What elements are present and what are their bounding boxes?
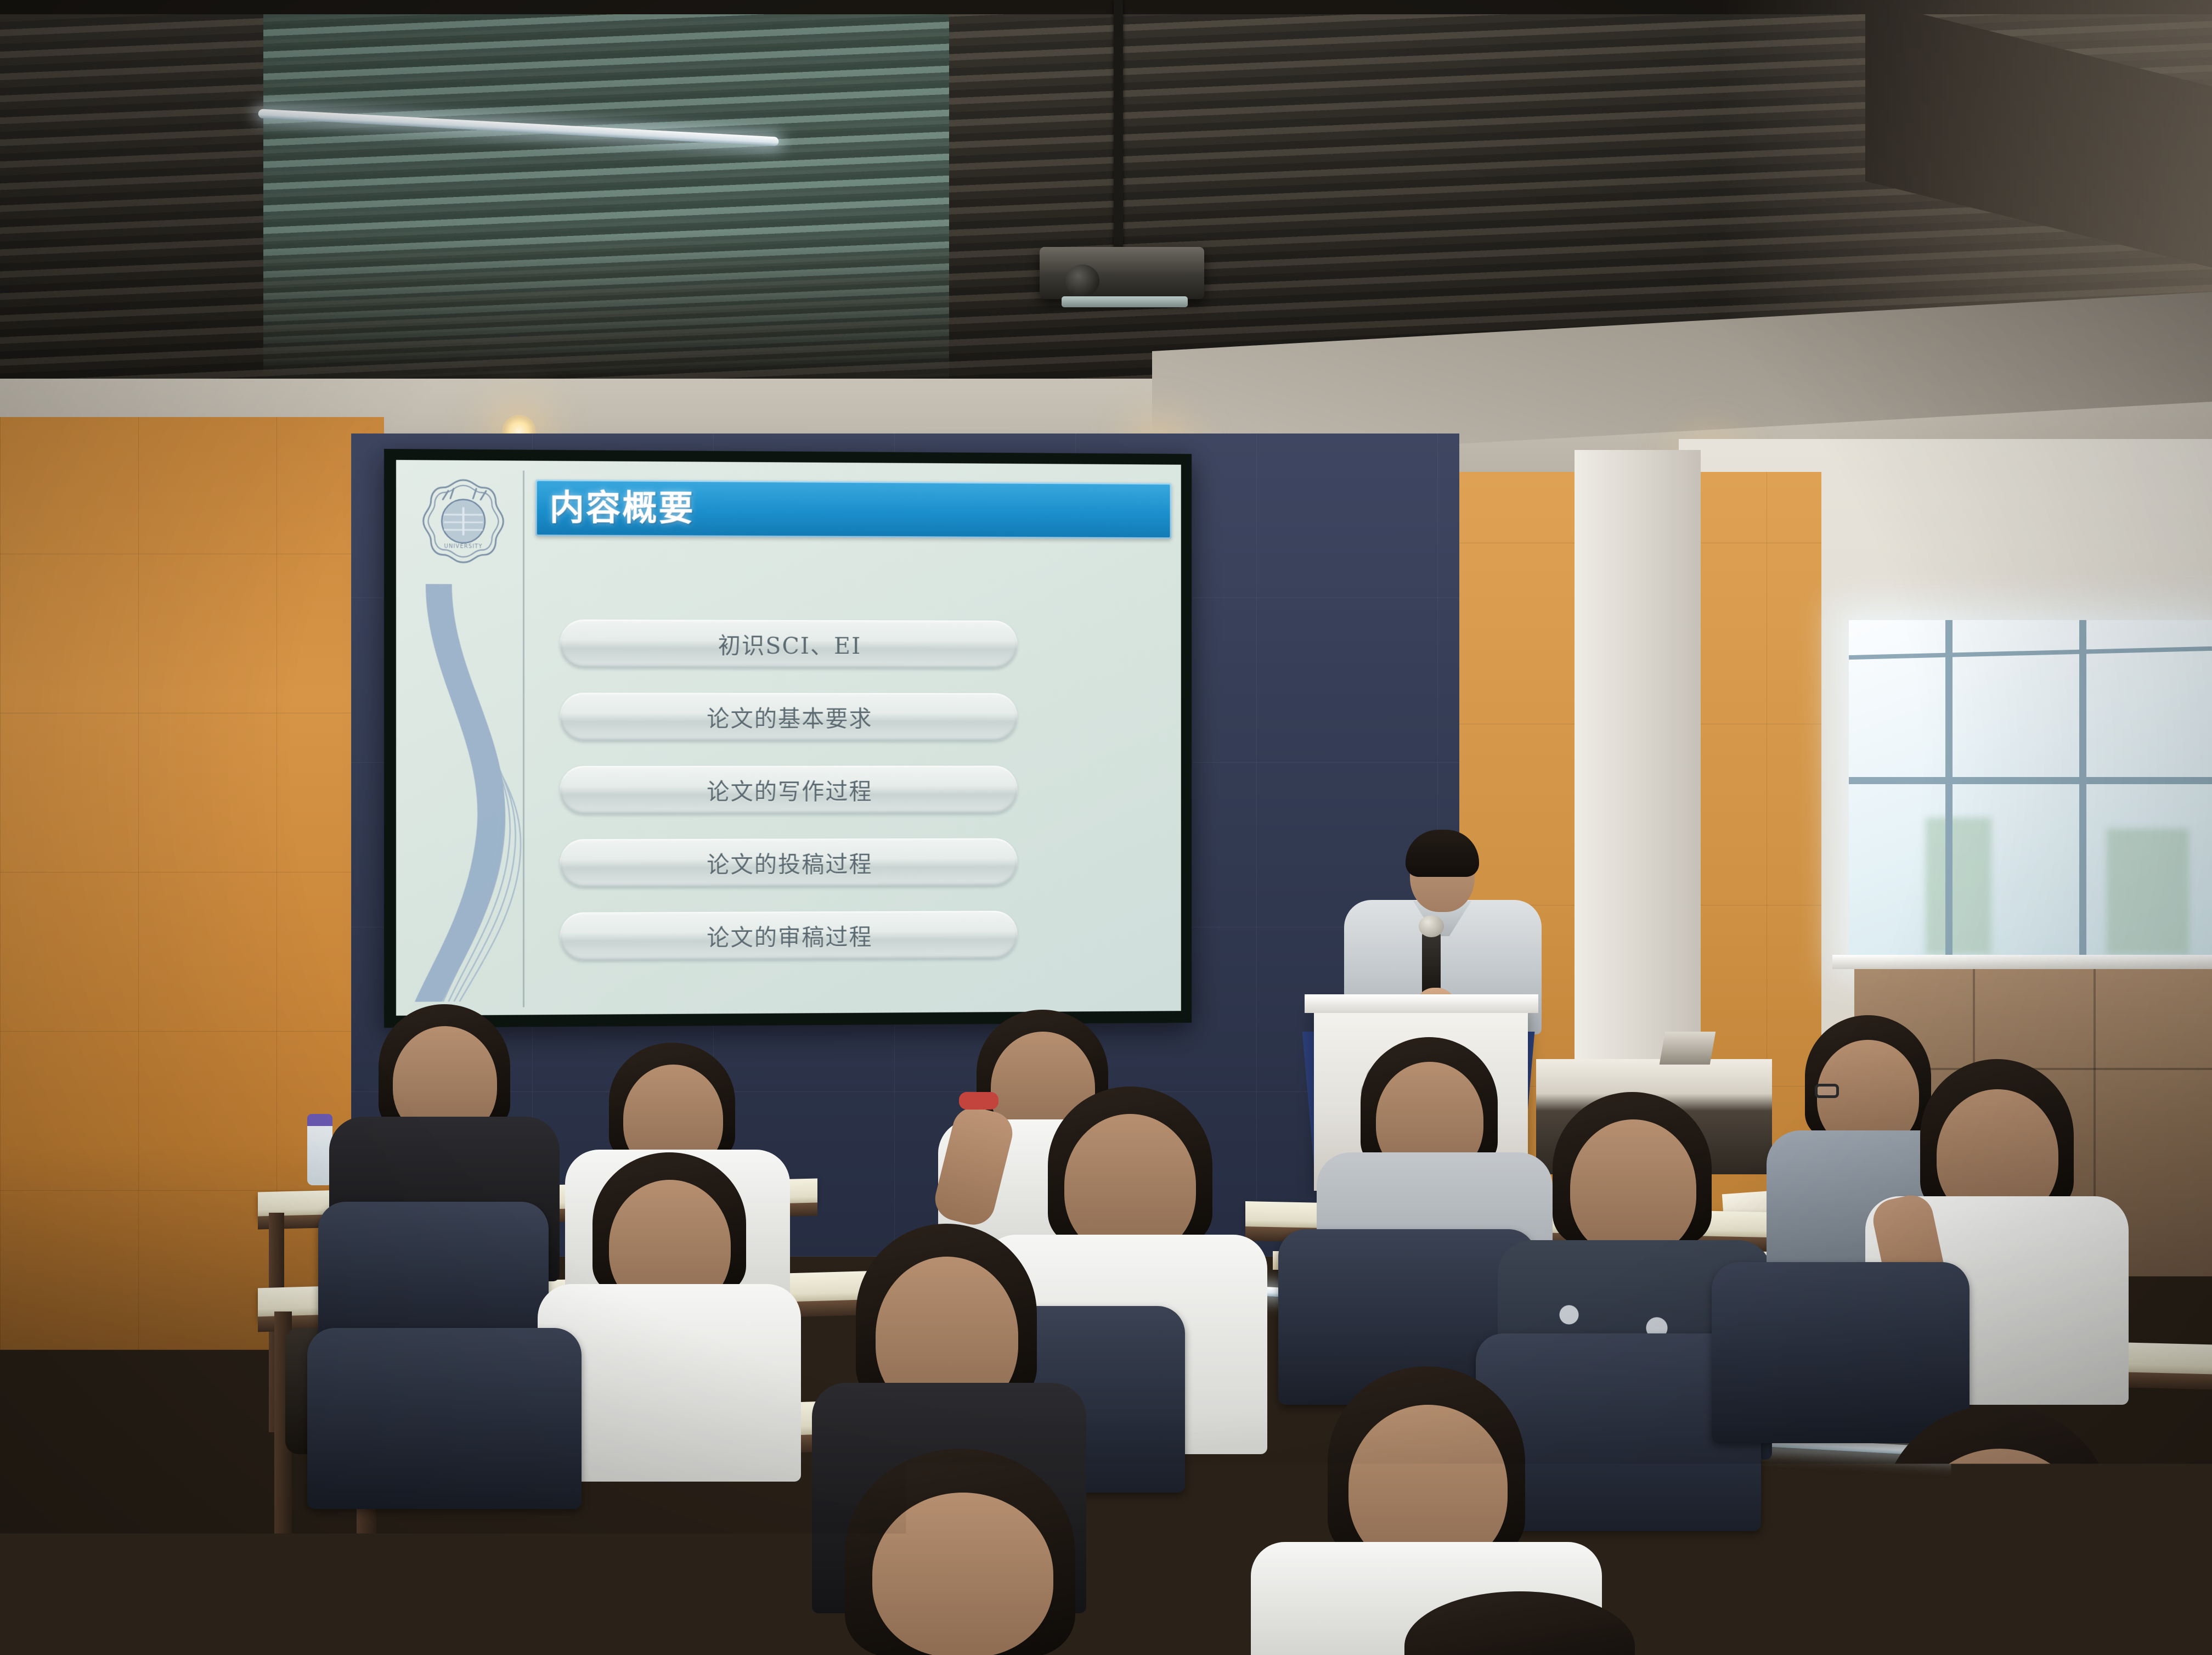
- person-head: [1570, 1119, 1696, 1257]
- slide-agenda-list: 初识SCI、EI 论文的基本要求 论文的写作过程 论文的投稿过程 论文的审稿过程: [560, 620, 1017, 961]
- chair: [307, 1328, 582, 1509]
- slide-title: 内容概要: [535, 490, 695, 526]
- projector-mount-pole: [1114, 0, 1123, 258]
- lecture-hall-scene: UNIVERSITY 内容概要: [0, 0, 2212, 1655]
- agenda-item-label: 论文的写作过程: [707, 773, 872, 807]
- agenda-item: 论文的写作过程: [560, 765, 1017, 814]
- agenda-item-label: 论文的基本要求: [707, 700, 872, 734]
- window-mullion: [2079, 620, 2086, 960]
- university-seal-logo-icon: UNIVERSITY: [415, 476, 512, 579]
- chair: [1712, 1262, 1970, 1443]
- person-hair: [2123, 1460, 2212, 1655]
- wristband: [959, 1092, 998, 1110]
- window-mullion: [1945, 620, 1953, 960]
- ceiling-projector: [1040, 247, 1204, 299]
- agenda-item: 论文的基本要求: [560, 693, 1017, 741]
- agenda-item-label: 论文的审稿过程: [707, 919, 872, 953]
- microphone-head-icon: [1419, 915, 1444, 937]
- person-head: [872, 1493, 1053, 1655]
- window: [1849, 620, 2212, 960]
- person-head: [1909, 1449, 2090, 1624]
- agenda-item: 初识SCI、EI: [560, 620, 1017, 668]
- presentation-slide: UNIVERSITY 内容概要: [396, 460, 1181, 1016]
- agenda-item: 论文的投稿过程: [560, 838, 1017, 887]
- projector-lens-icon: [1065, 264, 1099, 297]
- logo-university-text: UNIVERSITY: [444, 543, 482, 549]
- projection-screen-frame: UNIVERSITY 内容概要: [384, 449, 1192, 1028]
- eyeglasses-icon: [1815, 1084, 1839, 1098]
- podium-top-surface: [1305, 994, 1538, 1013]
- agenda-item: 论文的审稿过程: [560, 911, 1017, 961]
- slide-title-bar: 内容概要: [535, 480, 1172, 539]
- ceiling-green-panel: [263, 0, 949, 384]
- agenda-item-label: 初识SCI、EI: [718, 627, 862, 661]
- window-sill: [1832, 955, 2212, 969]
- laptop-device: [1660, 1032, 1716, 1065]
- projector-base: [1062, 296, 1188, 307]
- window-mullion: [1849, 777, 2212, 784]
- slide-ribbon-graphic: [406, 579, 523, 1002]
- agenda-item-label: 论文的投稿过程: [707, 846, 872, 879]
- projection-screen: UNIVERSITY 内容概要: [396, 460, 1181, 1016]
- window-mullion: [1849, 646, 2212, 660]
